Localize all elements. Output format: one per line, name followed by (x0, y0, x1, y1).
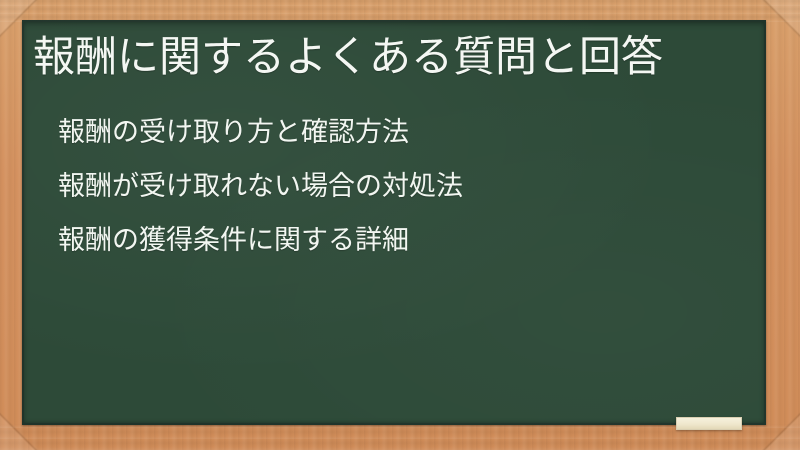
list-item: 報酬の受け取り方と確認方法 (58, 105, 463, 159)
blackboard-slide: 報酬に関するよくある質問と回答 報酬の受け取り方と確認方法 報酬が受け取れない場… (0, 0, 800, 450)
list-item: 報酬の獲得条件に関する詳細 (58, 213, 463, 267)
chalkboard: 報酬に関するよくある質問と回答 報酬の受け取り方と確認方法 報酬が受け取れない場… (22, 20, 766, 425)
topic-list: 報酬の受け取り方と確認方法 報酬が受け取れない場合の対処法 報酬の獲得条件に関す… (58, 105, 463, 267)
list-item: 報酬が受け取れない場合の対処法 (58, 159, 463, 213)
chalkboard-content: 報酬に関するよくある質問と回答 報酬の受け取り方と確認方法 報酬が受け取れない場… (22, 20, 766, 425)
frame-grain-top (0, 0, 800, 22)
chalk-eraser (676, 417, 742, 430)
slide-title: 報酬に関するよくある質問と回答 (33, 32, 663, 82)
